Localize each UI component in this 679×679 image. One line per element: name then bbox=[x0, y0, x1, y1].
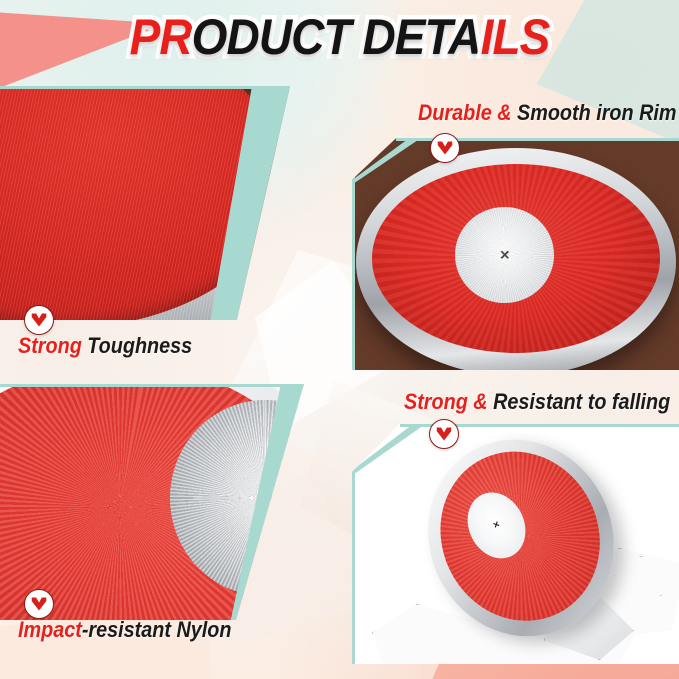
screw-head-icon: ✕ bbox=[492, 520, 502, 530]
page-title: PRODUCT DETAILS bbox=[27, 8, 652, 66]
feature-label-impact-resistant-nylon: Impact-resistant Nylon bbox=[18, 617, 231, 643]
feature-highlight: Durable & bbox=[418, 100, 512, 125]
feature-highlight: Strong & bbox=[404, 389, 488, 414]
panel-border-top bbox=[0, 86, 290, 89]
panel-border-left bbox=[352, 172, 355, 370]
discus-center-hub: ✕ bbox=[455, 207, 554, 303]
feature-label-strong-resistant-to-falling: Strong & Resistant to falling bbox=[404, 389, 670, 415]
feature-highlight: Strong bbox=[18, 333, 82, 358]
screw-head-icon: ✕ bbox=[499, 249, 510, 262]
product-details-infographic: ✕ bbox=[0, 0, 679, 679]
panel-border-left bbox=[352, 466, 355, 664]
down-chevron-badge-icon bbox=[430, 133, 460, 163]
feature-highlight: Impact bbox=[18, 617, 82, 642]
page-title-part-1: PR bbox=[130, 9, 192, 65]
image-impact-test: ✕ bbox=[352, 424, 679, 664]
feature-rest: -resistant Nylon bbox=[82, 617, 232, 642]
feature-rest: Smooth iron Rim bbox=[512, 100, 677, 125]
panel-full-discus: ✕ bbox=[352, 138, 679, 370]
panel-border-top bbox=[0, 384, 304, 387]
feature-rest: Toughness bbox=[82, 333, 192, 358]
panel-impact-cracked-ground: ✕ bbox=[352, 424, 679, 664]
feature-label-strong-toughness: Strong Toughness bbox=[18, 333, 192, 359]
down-chevron-badge-icon bbox=[24, 589, 54, 619]
feature-rest: Resistant to falling bbox=[488, 389, 671, 414]
feature-label-durable-smooth-iron-rim: Durable & Smooth iron Rim bbox=[418, 100, 677, 126]
down-chevron-badge-icon bbox=[24, 305, 54, 335]
down-chevron-badge-icon bbox=[429, 419, 459, 449]
page-title-part-3: ILS bbox=[481, 9, 550, 65]
page-title-part-2: ODUCT DETA bbox=[192, 9, 481, 65]
discus-object: ✕ bbox=[356, 148, 676, 370]
image-full-discus: ✕ bbox=[352, 138, 679, 370]
